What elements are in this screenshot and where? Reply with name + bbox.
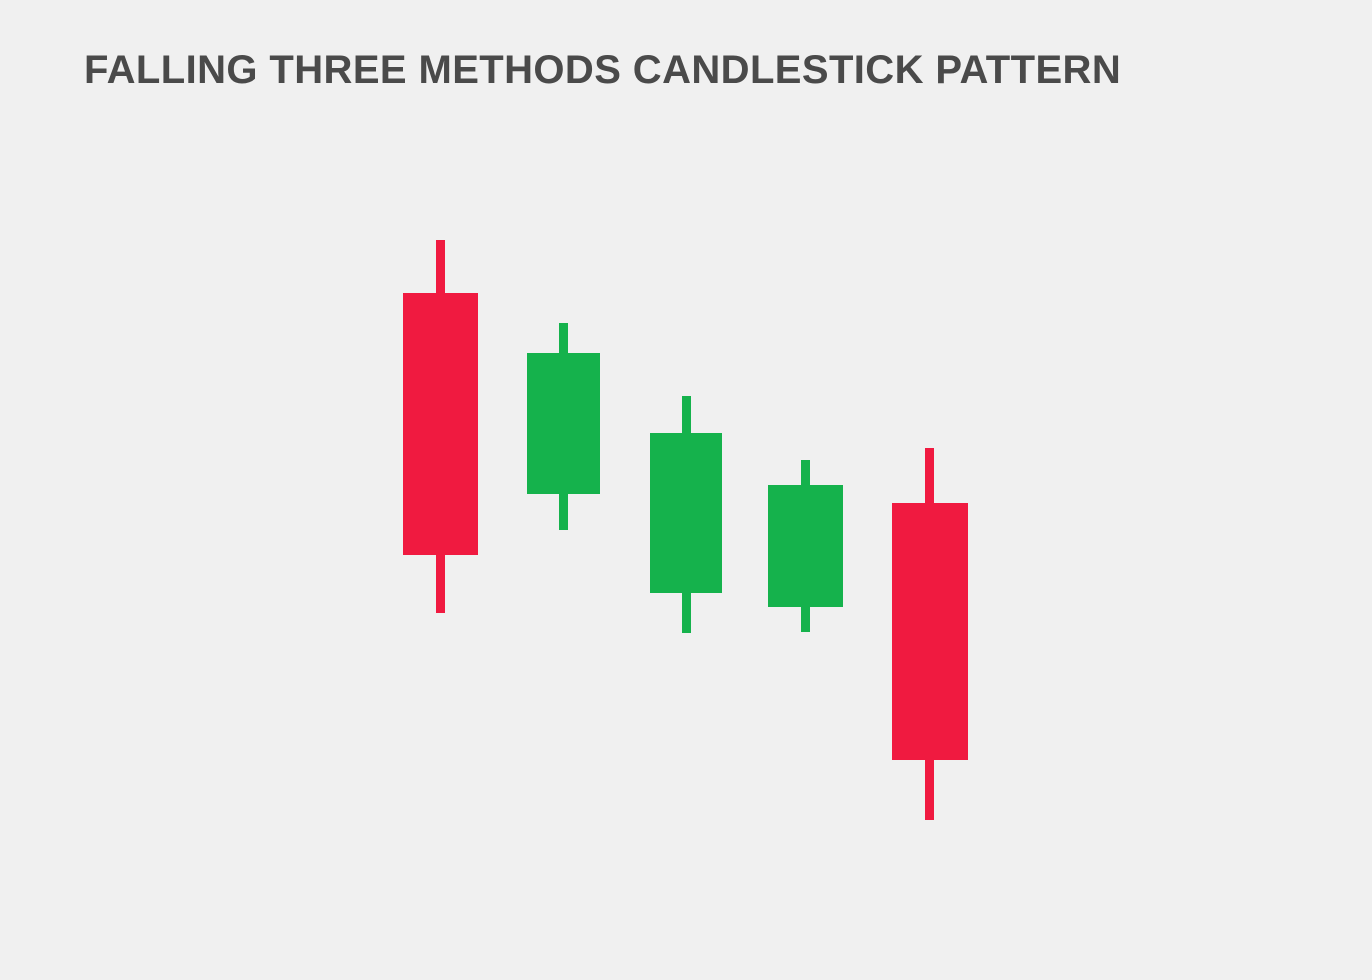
candlestick-plot-area — [0, 0, 1372, 980]
candle-body-4 — [768, 485, 843, 607]
chart-page: FALLING THREE METHODS CANDLESTICK PATTER… — [0, 0, 1372, 980]
candle-body-3 — [650, 433, 722, 593]
candle-body-5 — [892, 503, 968, 760]
candle-body-1 — [403, 293, 478, 555]
candle-body-2 — [527, 353, 600, 494]
